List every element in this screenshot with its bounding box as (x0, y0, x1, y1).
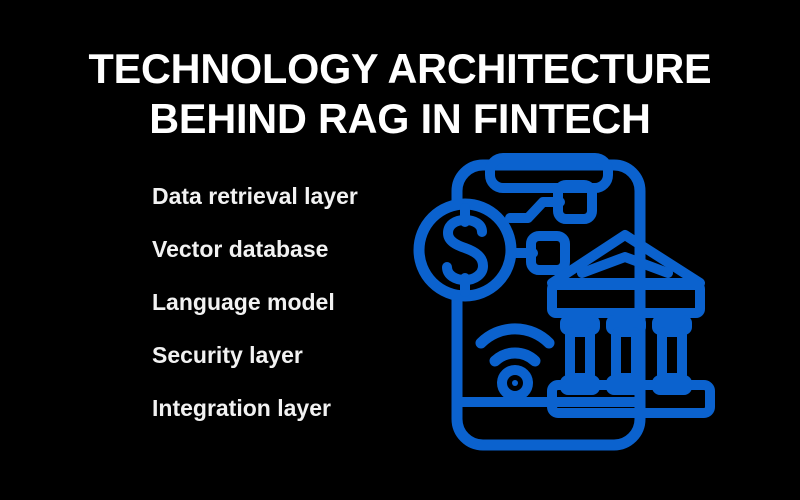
feature-list: Data retrieval layer Vector database Lan… (152, 183, 422, 421)
title-line-2: BEHIND RAG IN FINTECH (6, 94, 794, 144)
list-item-integration-layer: Integration layer (152, 395, 422, 421)
fintech-illustration (400, 140, 740, 470)
poster-canvas: TECHNOLOGY ARCHITECTURE BEHIND RAG IN FI… (0, 0, 800, 500)
wifi-signal-icon (481, 329, 549, 396)
bank-column-2 (611, 320, 641, 390)
bank-building-icon (552, 235, 710, 413)
bank-column-3 (657, 320, 687, 390)
list-item-security-layer: Security layer (152, 342, 422, 368)
page-title: TECHNOLOGY ARCHITECTURE BEHIND RAG IN FI… (0, 44, 800, 144)
list-item-language-model: Language model (152, 289, 422, 315)
list-item-vector-database: Vector database (152, 236, 422, 262)
list-item-data-retrieval-layer: Data retrieval layer (152, 183, 422, 209)
bank-column-1 (565, 320, 595, 390)
circuit-node-icon (510, 185, 592, 270)
title-line-1: TECHNOLOGY ARCHITECTURE (6, 44, 794, 94)
dollar-coin-icon (419, 204, 511, 296)
fintech-illustration-svg (400, 140, 740, 470)
